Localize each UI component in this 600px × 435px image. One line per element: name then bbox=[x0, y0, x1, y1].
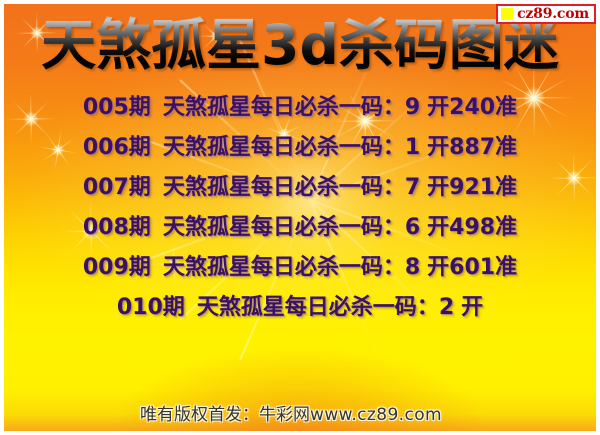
prediction-row: 008期 天煞孤星每日必杀一码： 6 开 498 准 bbox=[0, 208, 600, 248]
row-open-label: 开 bbox=[427, 128, 449, 168]
row-accuracy: 准 bbox=[495, 128, 517, 168]
row-open-label: 开 bbox=[461, 288, 483, 328]
row-accuracy: 准 bbox=[495, 168, 517, 208]
site-logo-text: cz89.com bbox=[517, 7, 589, 21]
row-accuracy: 准 bbox=[495, 88, 517, 128]
row-kill-number: 2 bbox=[439, 288, 454, 328]
row-kill-number: 8 bbox=[405, 248, 420, 288]
footer-site-name: 牛彩网 bbox=[259, 400, 310, 425]
row-label: 天煞孤星每日必杀一码： bbox=[163, 128, 405, 168]
yellow-square-icon bbox=[501, 8, 513, 20]
site-logo-badge[interactable]: cz89.com bbox=[496, 4, 596, 24]
row-issue: 008期 bbox=[83, 208, 151, 248]
footer-url[interactable]: www.cz89.com bbox=[310, 405, 442, 425]
prediction-row: 005期 天煞孤星每日必杀一码： 9 开 240 准 bbox=[0, 88, 600, 128]
row-kill-number: 9 bbox=[405, 88, 420, 128]
row-label: 天煞孤星每日必杀一码： bbox=[163, 168, 405, 208]
row-open-result: 240 bbox=[449, 88, 495, 128]
row-issue: 009期 bbox=[83, 248, 151, 288]
row-label: 天煞孤星每日必杀一码： bbox=[163, 248, 405, 288]
row-open-result: 601 bbox=[449, 248, 495, 288]
row-open-result: 498 bbox=[449, 208, 495, 248]
prediction-row: 007期 天煞孤星每日必杀一码： 7 开 921 准 bbox=[0, 168, 600, 208]
row-label: 天煞孤星每日必杀一码： bbox=[197, 288, 439, 328]
row-accuracy: 准 bbox=[495, 208, 517, 248]
prediction-row: 010期 天煞孤星每日必杀一码： 2 开 bbox=[0, 288, 600, 328]
row-open-label: 开 bbox=[427, 248, 449, 288]
row-kill-number: 1 bbox=[405, 128, 420, 168]
row-open-label: 开 bbox=[427, 208, 449, 248]
prediction-row: 006期 天煞孤星每日必杀一码： 1 开 887 准 bbox=[0, 128, 600, 168]
row-kill-number: 7 bbox=[405, 168, 420, 208]
row-issue: 007期 bbox=[83, 168, 151, 208]
row-label: 天煞孤星每日必杀一码： bbox=[163, 88, 405, 128]
footer-prefix: 唯有版权首发： bbox=[140, 400, 259, 425]
row-issue: 006期 bbox=[83, 128, 151, 168]
copyright-footer: 唯有版权首发：牛彩网www.cz89.com bbox=[0, 400, 600, 425]
row-open-label: 开 bbox=[427, 88, 449, 128]
row-open-result: 887 bbox=[449, 128, 495, 168]
row-issue: 005期 bbox=[83, 88, 151, 128]
row-kill-number: 6 bbox=[405, 208, 420, 248]
row-accuracy: 准 bbox=[495, 248, 517, 288]
row-open-result: 921 bbox=[449, 168, 495, 208]
lottery-poster: cz89.com 天煞孤星3d杀码图迷 005期 天煞孤星每日必杀一码： 9 开… bbox=[0, 0, 600, 435]
row-open-label: 开 bbox=[427, 168, 449, 208]
prediction-list: 005期 天煞孤星每日必杀一码： 9 开 240 准 006期 天煞孤星每日必杀… bbox=[0, 88, 600, 328]
prediction-row: 009期 天煞孤星每日必杀一码： 8 开 601 准 bbox=[0, 248, 600, 288]
row-label: 天煞孤星每日必杀一码： bbox=[163, 208, 405, 248]
row-issue: 010期 bbox=[117, 288, 185, 328]
